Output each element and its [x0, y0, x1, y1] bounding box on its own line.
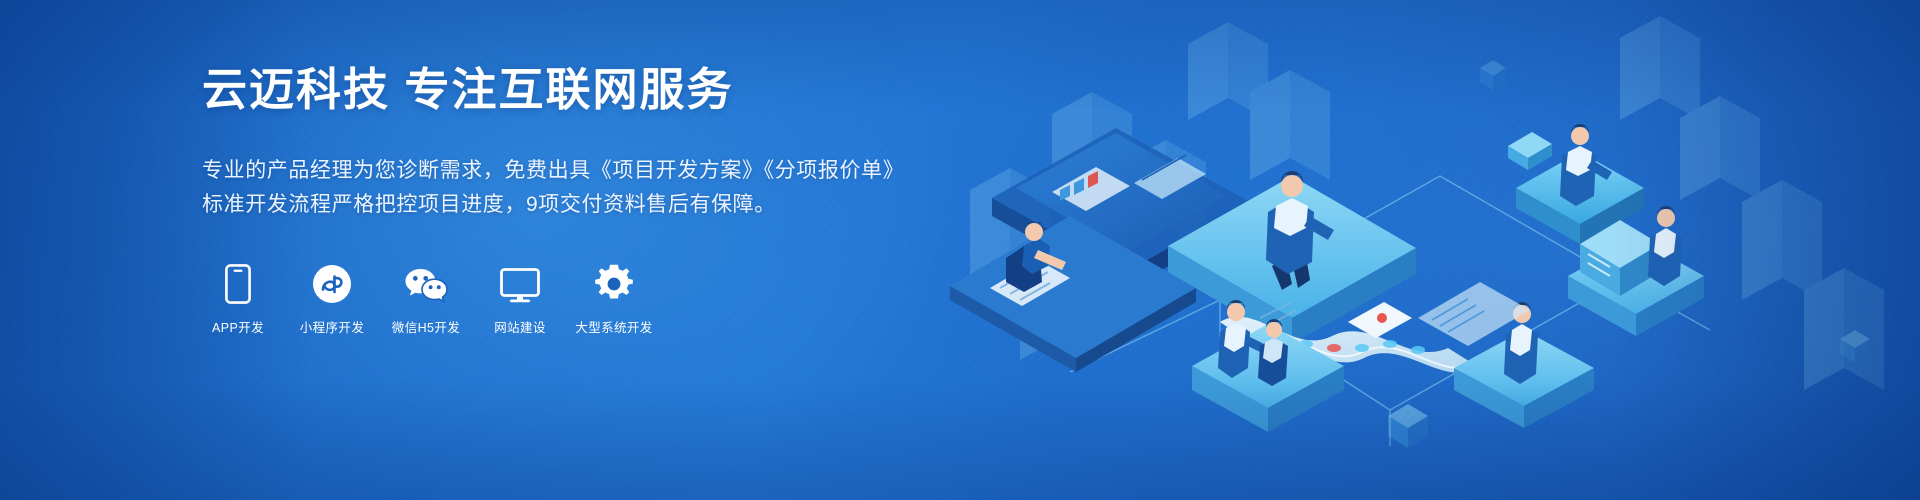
mini-program-icon	[312, 260, 352, 304]
banner-subtitle: 专业的产品经理为您诊断需求，免费出具《项目开发方案》《分项报价单》 标准开发流程…	[202, 154, 902, 222]
page-title: 云迈科技 专注互联网服务	[202, 64, 902, 116]
subtitle-line-1: 专业的产品经理为您诊断需求，免费出具《项目开发方案》《分项报价单》	[202, 154, 902, 188]
service-label-wechat: 微信H5开发	[392, 317, 460, 336]
hero-banner: 云迈科技 专注互联网服务 专业的产品经理为您诊断需求，免费出具《项目开发方案》《…	[0, 0, 1920, 500]
service-label-mini-program: 小程序开发	[300, 317, 365, 336]
isometric-illustration	[920, 0, 1920, 500]
wechat-icon	[404, 260, 448, 304]
service-item-app[interactable]: APP开发	[202, 260, 274, 336]
gear-icon	[594, 260, 634, 304]
person-mid-right	[1648, 206, 1682, 286]
service-item-wechat[interactable]: 微信H5开发	[390, 260, 462, 336]
subtitle-line-2: 标准开发流程严格把控项目进度，9项交付资料售后有保障。	[202, 188, 902, 222]
service-label-system: 大型系统开发	[575, 317, 652, 336]
service-label-app: APP开发	[212, 317, 264, 336]
service-list: APP开发 小程序开发	[202, 260, 902, 336]
monitor-icon	[500, 260, 540, 304]
service-item-system[interactable]: 大型系统开发	[578, 260, 650, 336]
service-item-mini-program[interactable]: 小程序开发	[296, 260, 368, 336]
mobile-phone-icon	[225, 260, 251, 304]
service-label-website: 网站建设	[494, 317, 546, 336]
banner-copy: 云迈科技 专注互联网服务 专业的产品经理为您诊断需求，免费出具《项目开发方案》《…	[202, 64, 902, 336]
small-tag-icon	[1508, 132, 1552, 170]
service-item-website[interactable]: 网站建设	[484, 260, 556, 336]
